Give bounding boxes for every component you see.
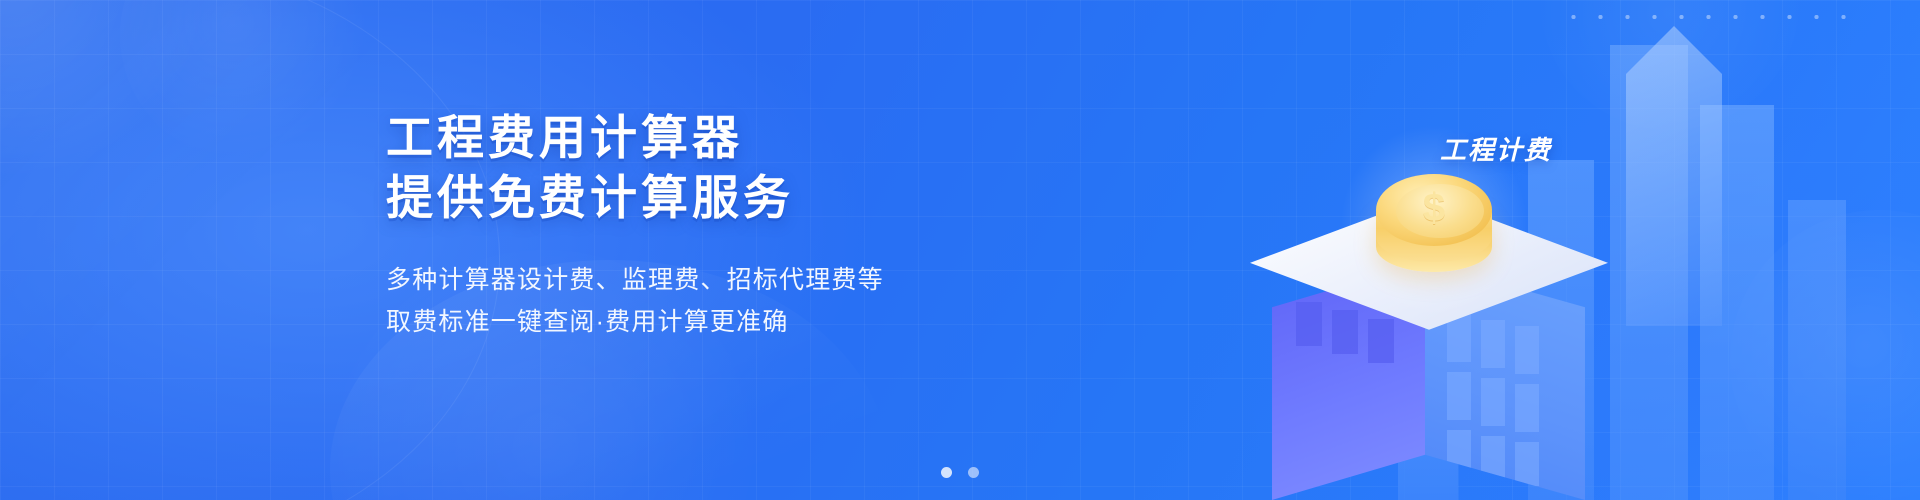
banner-subtitle: 多种计算器设计费、监理费、招标代理费等 取费标准一键查阅·费用计算更准确 xyxy=(386,259,1026,343)
dollar-sign-icon: $ xyxy=(1376,188,1492,228)
carousel-dot-2[interactable] xyxy=(968,467,979,478)
coin-stack: $ xyxy=(1370,172,1498,290)
banner-title-line-2: 提供免费计算服务 xyxy=(386,168,1026,228)
carousel-indicators[interactable] xyxy=(480,467,1440,478)
carousel-dot-1[interactable] xyxy=(941,467,952,478)
illustration-label: 工程计费 xyxy=(1440,130,1552,167)
banner-subtitle-line-1: 多种计算器设计费、监理费、招标代理费等 xyxy=(386,259,1026,301)
promo-banner: 工程费用计算器 提供免费计算服务 多种计算器设计费、监理费、招标代理费等 取费标… xyxy=(0,0,1920,500)
banner-copy: 工程费用计算器 提供免费计算服务 多种计算器设计费、监理费、招标代理费等 取费标… xyxy=(386,108,1026,343)
banner-illustration: $ 工程计费 xyxy=(1140,0,1920,500)
banner-title-line-1: 工程费用计算器 xyxy=(386,108,1026,168)
deco-bar-right xyxy=(1788,200,1846,500)
coin-top: $ xyxy=(1376,174,1492,246)
banner-subtitle-line-2: 取费标准一键查阅·费用计算更准确 xyxy=(386,301,1026,343)
deco-prism xyxy=(1626,26,1722,326)
